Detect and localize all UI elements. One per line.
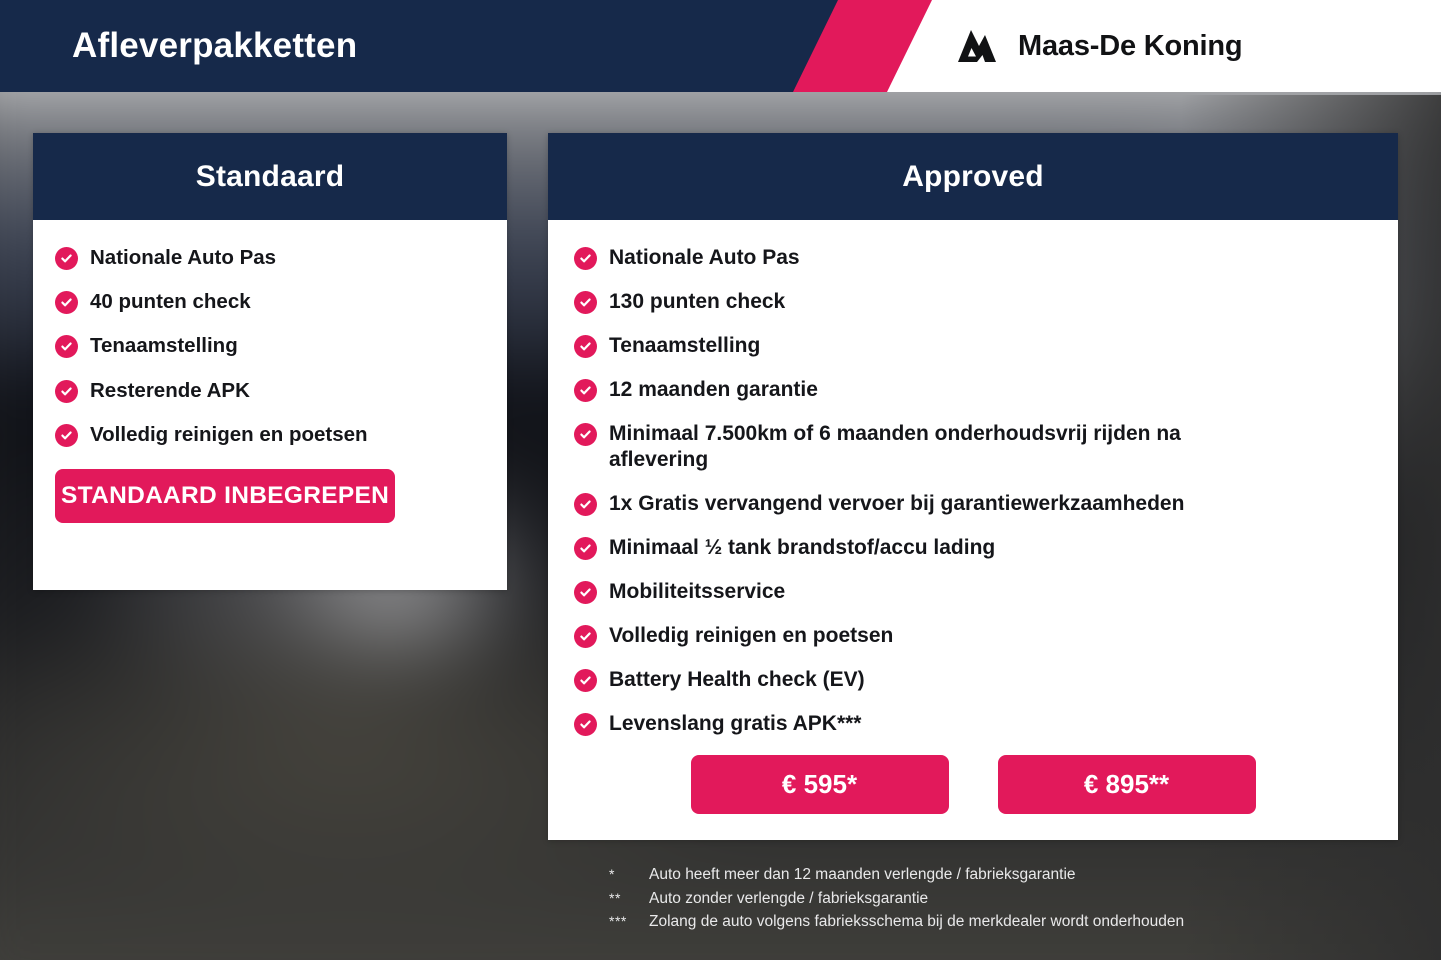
feature-label: Resterende APK [90, 378, 250, 404]
list-item: Mobiliteitsservice [574, 579, 1398, 606]
list-item: 12 maanden garantie [574, 377, 1398, 404]
check-icon [574, 625, 597, 648]
list-item: Minimaal 7.500km of 6 maanden onderhouds… [574, 421, 1398, 475]
check-icon [574, 581, 597, 604]
feature-label: 40 punten check [90, 289, 251, 315]
check-icon [574, 537, 597, 560]
price-button-row: € 595* € 895** [548, 755, 1398, 814]
feature-label: Mobiliteitsservice [609, 579, 785, 606]
list-item: 40 punten check [55, 289, 507, 315]
page-header: Afleverpakketten Maas-De Koning [0, 0, 1441, 92]
feature-label: 130 punten check [609, 289, 785, 316]
brand-lockup: Maas-De Koning [955, 0, 1242, 92]
list-item: Tenaamstelling [574, 333, 1398, 360]
card-body-approved: Nationale Auto Pas 130 punten check Tena… [548, 245, 1398, 814]
list-item: Nationale Auto Pas [574, 245, 1398, 272]
list-item: Minimaal ½ tank brandstof/accu lading [574, 535, 1398, 562]
list-item: Volledig reinigen en poetsen [55, 422, 507, 448]
list-item: 1x Gratis vervangend vervoer bij garanti… [574, 491, 1398, 518]
footnote-text: Zolang de auto volgens fabrieksschema bi… [649, 911, 1184, 934]
feature-label: Tenaamstelling [609, 333, 760, 360]
card-title-approved: Approved [902, 160, 1044, 194]
feature-label: Volledig reinigen en poetsen [90, 422, 368, 448]
footnote-text: Auto heeft meer dan 12 maanden verlengde… [649, 864, 1076, 887]
list-item: Resterende APK [55, 378, 507, 404]
card-title-standaard: Standaard [196, 160, 345, 194]
standaard-inbegrepen-button[interactable]: STANDAARD INBEGREPEN [55, 469, 395, 523]
list-item: 130 punten check [574, 289, 1398, 316]
feature-label: Tenaamstelling [90, 333, 238, 359]
check-icon [574, 713, 597, 736]
check-icon [574, 335, 597, 358]
feature-label: Minimaal ½ tank brandstof/accu lading [609, 535, 995, 562]
check-icon [55, 380, 78, 403]
footnote-row: * Auto heeft meer dan 12 maanden verleng… [609, 863, 1184, 887]
brand-name: Maas-De Koning [1018, 30, 1242, 63]
feature-label: Nationale Auto Pas [90, 245, 276, 271]
list-item: Volledig reinigen en poetsen [574, 623, 1398, 650]
footnote-marker: *** [609, 910, 649, 933]
maas-de-koning-m-logo-icon [955, 28, 999, 64]
list-item: Battery Health check (EV) [574, 667, 1398, 694]
feature-list-standaard: Nationale Auto Pas 40 punten check Tenaa… [55, 245, 507, 448]
package-card-approved: Approved Nationale Auto Pas 130 punten c… [548, 133, 1398, 840]
check-icon [574, 247, 597, 270]
check-icon [55, 247, 78, 270]
check-icon [574, 493, 597, 516]
card-header-standaard: Standaard [33, 133, 507, 220]
card-header-approved: Approved [548, 133, 1398, 220]
feature-label: Nationale Auto Pas [609, 245, 800, 272]
footnote-marker: ** [609, 887, 649, 910]
feature-label: Minimaal 7.500km of 6 maanden onderhouds… [609, 421, 1249, 475]
feature-label: Battery Health check (EV) [609, 667, 865, 694]
footnotes: * Auto heeft meer dan 12 maanden verleng… [609, 863, 1184, 934]
footnote-marker: * [609, 863, 649, 886]
poster-canvas: Afleverpakketten Maas-De Koning Standaar… [0, 0, 1441, 960]
feature-label: 1x Gratis vervangend vervoer bij garanti… [609, 491, 1184, 518]
footnote-text: Auto zonder verlengde / fabrieksgarantie [649, 888, 928, 911]
package-card-standaard: Standaard Nationale Auto Pas 40 punten c… [33, 133, 507, 590]
check-icon [55, 335, 78, 358]
price-button-595[interactable]: € 595* [691, 755, 949, 814]
page-title: Afleverpakketten [72, 0, 357, 92]
feature-label: 12 maanden garantie [609, 377, 818, 404]
feature-label: Levenslang gratis APK*** [609, 711, 861, 738]
check-icon [55, 291, 78, 314]
price-button-895[interactable]: € 895** [998, 755, 1256, 814]
check-icon [574, 379, 597, 402]
list-item: Tenaamstelling [55, 333, 507, 359]
footnote-row: *** Zolang de auto volgens fabrieksschem… [609, 910, 1184, 934]
feature-label: Volledig reinigen en poetsen [609, 623, 893, 650]
check-icon [55, 424, 78, 447]
footnote-row: ** Auto zonder verlengde / fabrieksgaran… [609, 887, 1184, 911]
check-icon [574, 291, 597, 314]
card-body-standaard: Nationale Auto Pas 40 punten check Tenaa… [33, 245, 507, 523]
feature-list-approved: Nationale Auto Pas 130 punten check Tena… [574, 245, 1398, 738]
list-item: Levenslang gratis APK*** [574, 711, 1398, 738]
check-icon [574, 423, 597, 446]
list-item: Nationale Auto Pas [55, 245, 507, 271]
check-icon [574, 669, 597, 692]
